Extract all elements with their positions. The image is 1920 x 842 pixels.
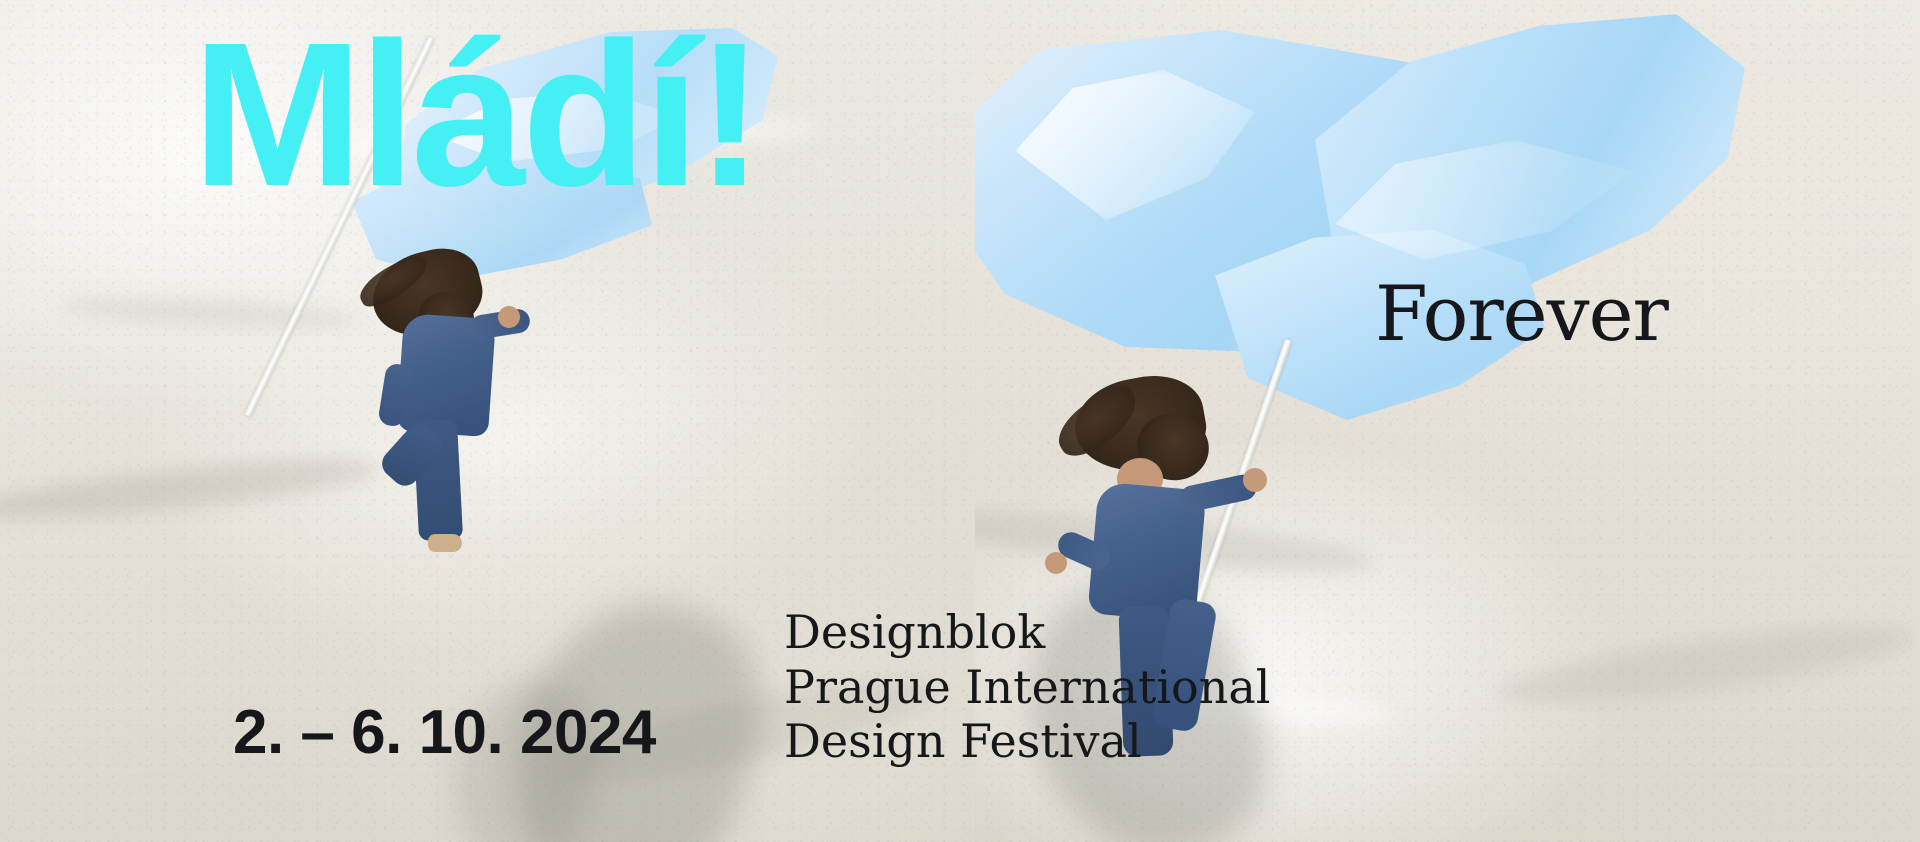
festival-subtitle-line-1: Prague International	[784, 660, 1270, 715]
festival-dates: 2. – 6. 10. 2024	[233, 702, 656, 764]
runner-shoe	[428, 534, 462, 552]
festival-subtitle-line-2: Design Festival	[784, 714, 1270, 769]
runner-hand	[498, 306, 520, 328]
festival-info-block: Designblok Prague International Design F…	[784, 605, 1270, 769]
designblok-poster: Mládí! Forever 2. – 6. 10. 2024 Designbl…	[0, 0, 1920, 842]
page-title: Mládí!	[192, 18, 760, 213]
runner-hand	[1243, 468, 1267, 492]
festival-name: Designblok	[784, 605, 1270, 660]
runner-hand	[1045, 552, 1067, 574]
subhead-forever: Forever	[1375, 276, 1668, 352]
